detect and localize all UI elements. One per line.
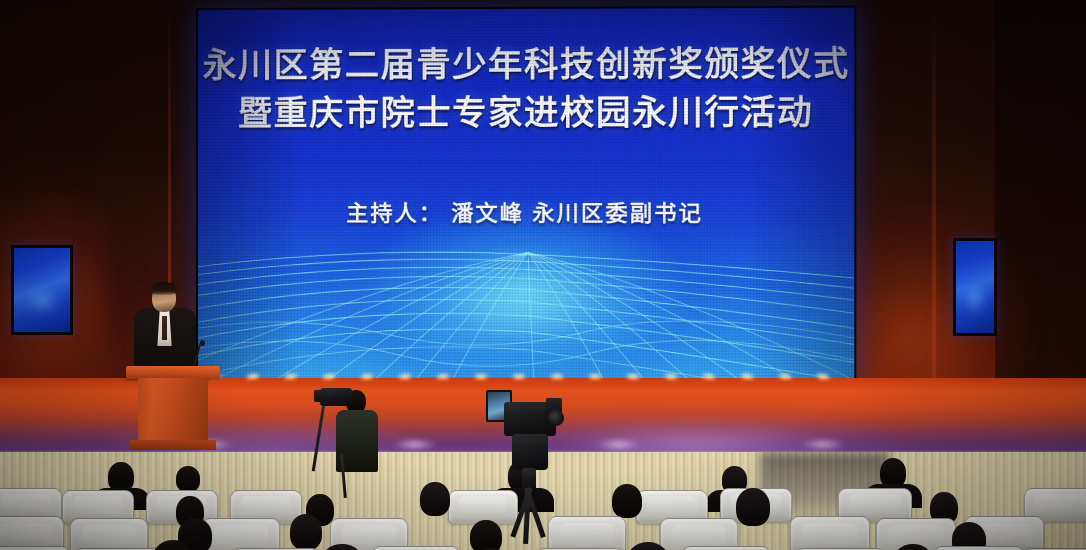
audience-head bbox=[736, 488, 770, 526]
auditorium-seat bbox=[202, 518, 280, 550]
auditorium-seat bbox=[0, 546, 70, 550]
audience-head bbox=[420, 482, 450, 516]
side-display-panel-left bbox=[11, 245, 73, 335]
auditorium-scene: 永川区第二届青少年科技创新奖颁奖仪式 暨重庆市院士专家进校园永川行活动 主持人：… bbox=[0, 0, 1086, 550]
auditorium-seat bbox=[790, 516, 870, 550]
led-screen-footlights bbox=[195, 374, 849, 380]
stage-floor-spotlight bbox=[800, 439, 846, 450]
event-title-line-2: 暨重庆市院士专家进校园永川行活动 bbox=[198, 91, 854, 137]
side-display-panel-right bbox=[953, 238, 997, 336]
podium-microphone-head bbox=[200, 340, 205, 346]
speaker-tie bbox=[162, 316, 167, 340]
camera-battery-pack bbox=[512, 434, 548, 470]
video-camera-center bbox=[482, 388, 582, 550]
wireframe-mesh-graphic bbox=[198, 234, 854, 382]
speaker-hair bbox=[151, 282, 177, 295]
shoulder-camera-lens-hood bbox=[314, 390, 326, 402]
auditorium-seat bbox=[70, 518, 148, 550]
stage-floor-spotlight bbox=[596, 439, 642, 450]
event-title-line-1: 永川区第二届青少年科技创新奖颁奖仪式 bbox=[198, 42, 854, 88]
auditorium-seat bbox=[934, 546, 1024, 550]
podium-body bbox=[138, 378, 208, 442]
audience-head bbox=[176, 466, 200, 492]
camera-lens bbox=[548, 410, 564, 426]
main-led-screen: 永川区第二届青少年科技创新奖颁奖仪式 暨重庆市院士专家进校园永川行活动 主持人：… bbox=[196, 6, 856, 385]
event-host-line: 主持人： 潘文峰 永川区委副书记 bbox=[198, 196, 854, 228]
video-camera-left bbox=[318, 384, 388, 494]
audience-head bbox=[290, 514, 322, 550]
audience-head bbox=[612, 484, 642, 518]
led-screen-text-block: 永川区第二届青少年科技创新奖颁奖仪式 暨重庆市院士专家进校园永川行活动 主持人：… bbox=[198, 8, 854, 229]
auditorium-seat bbox=[0, 516, 64, 550]
podium-and-speaker bbox=[118, 282, 226, 454]
auditorium-seat bbox=[682, 546, 770, 550]
podium-base bbox=[130, 440, 216, 450]
stage-floor-spotlight bbox=[392, 439, 438, 450]
auditorium-seat bbox=[372, 546, 460, 550]
